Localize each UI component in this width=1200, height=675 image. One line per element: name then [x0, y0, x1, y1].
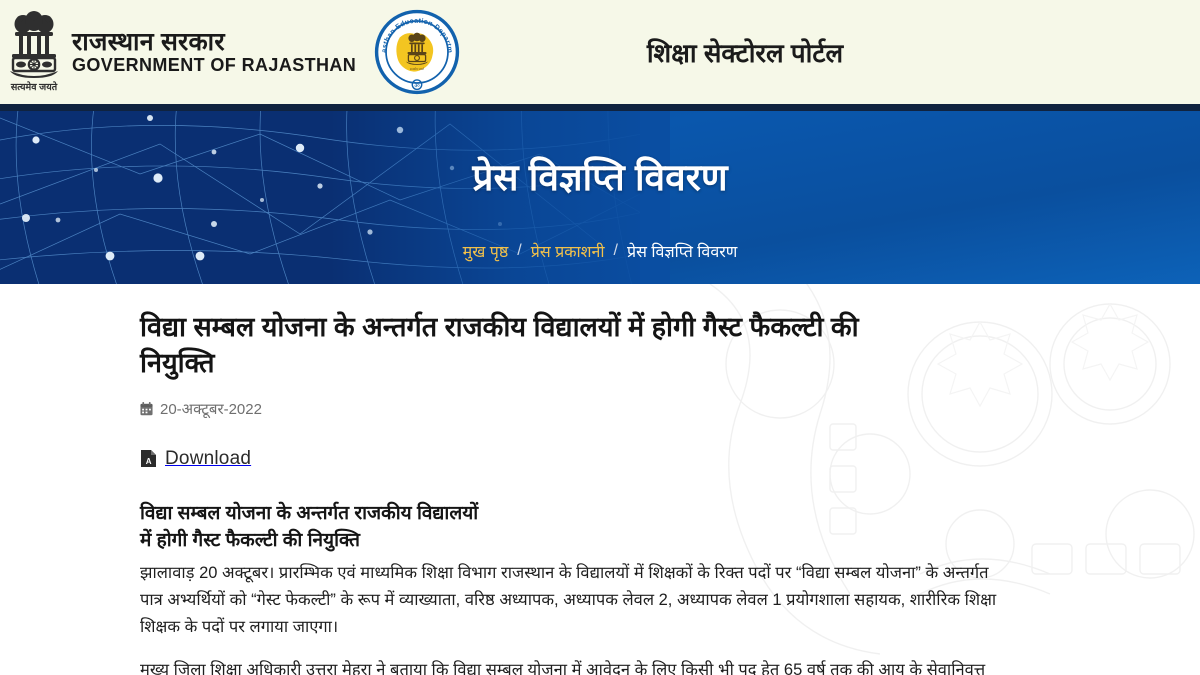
breadcrumb-separator: /: [517, 242, 521, 260]
logo-bottom-glyph: ॐ: [414, 81, 420, 89]
article-body-heading-line-1: विद्या सम्बल योजना के अन्तर्गत राजकीय वि…: [140, 501, 700, 528]
site-header: सत्यमेव जयते राजस्थान सरकार GOVERNMENT O…: [0, 0, 1200, 104]
page-title: विद्या सम्बल योजना के अन्तर्गत राजकीय वि…: [140, 310, 880, 382]
breadcrumb-item-press-releases[interactable]: प्रेस प्रकाशनी: [531, 240, 605, 262]
download-button[interactable]: A Download: [140, 448, 251, 470]
government-name-english: GOVERNMENT OF RAJASTHAN: [72, 56, 356, 75]
rajasthan-education-department-logo: सत्यमेव जयते Rajasthan Education Departm…: [374, 9, 460, 95]
government-name-hindi: राजस्थान सरकार: [72, 29, 356, 55]
svg-text:A: A: [146, 457, 152, 466]
government-identity: सत्यमेव जयते राजस्थान सरकार GOVERNMENT O…: [6, 8, 336, 96]
press-release-article: विद्या सम्बल योजना के अन्तर्गत राजकीय वि…: [0, 284, 1200, 675]
breadcrumb-item-current: प्रेस विज्ञप्ति विवरण: [627, 240, 737, 262]
content-area: विद्या सम्बल योजना के अन्तर्गत राजकीय वि…: [0, 284, 1200, 675]
pdf-file-icon: A: [140, 449, 157, 468]
publish-date: 20-अक्टूबर-2022: [140, 399, 1010, 419]
breadcrumb-separator: /: [614, 242, 618, 260]
article-body-heading-line-2: में होगी गैस्ट फैकल्टी की नियुक्ति: [140, 528, 700, 555]
article-paragraph: झालावाड़ 20 अक्टूबर। प्रारम्भिक एवं माध्…: [140, 560, 1010, 640]
article-paragraph: मुख्य जिला शिक्षा अधिकारी उत्तरा मेहरा न…: [140, 657, 1010, 675]
calendar-icon: [140, 402, 153, 416]
emblem-caption: सत्यमेव जयते: [10, 81, 58, 93]
download-label: Download: [165, 448, 251, 470]
page-banner: प्रेस विज्ञप्ति विवरण मुख पृष्ठ / प्रेस …: [0, 104, 1200, 284]
breadcrumb-item-home[interactable]: मुख पृष्ठ: [463, 240, 509, 262]
portal-title: शिक्षा सेक्टोरल पोर्टल: [460, 34, 1200, 70]
breadcrumb: मुख पृष्ठ / प्रेस प्रकाशनी / प्रेस विज्ञ…: [463, 240, 738, 262]
publish-date-text: 20-अक्टूबर-2022: [160, 399, 262, 419]
banner-top-strip: [0, 104, 1200, 111]
article-body-heading: विद्या सम्बल योजना के अन्तर्गत राजकीय वि…: [140, 501, 700, 555]
national-emblem-icon: सत्यमेव जयते: [6, 8, 62, 96]
logo-inner-caption: सत्यमेव जयते: [410, 67, 424, 71]
banner-title: प्रेस विज्ञप्ति विवरण: [472, 157, 727, 200]
government-name-block: राजस्थान सरकार GOVERNMENT OF RAJASTHAN: [72, 29, 356, 75]
